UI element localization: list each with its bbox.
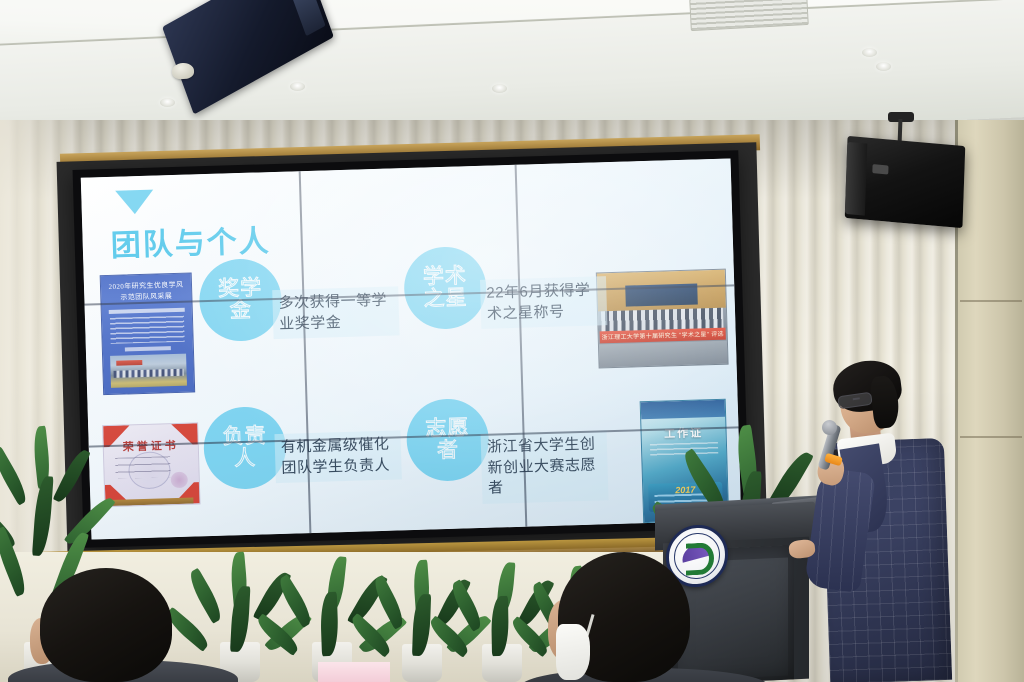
slide-badge-volunteer-label: 志愿者: [420, 417, 475, 463]
poster-inset-photo: [110, 354, 187, 388]
downlight: [290, 82, 305, 91]
plant-leaf: [32, 476, 54, 557]
attendee-left-head: [40, 568, 172, 682]
slide-badge-academic-star-label: 学术之星: [418, 265, 473, 311]
wall-panel-line: [960, 300, 1022, 302]
presentation-slide: 团队与个人 2020年研究生优良学风 示范团队风采展: [81, 158, 741, 539]
wall-speaker: [845, 136, 966, 228]
slide-badge-leader-label: 负责人: [217, 425, 272, 471]
wall-panel-line: [960, 436, 1022, 438]
speaker-port: [872, 164, 888, 174]
slide-text-academic-star: 22年6月获得学术之星称号: [480, 276, 607, 329]
slide-photo-blue-poster: 2020年研究生优良学风 示范团队风采展: [100, 272, 196, 395]
face-mask-icon: [556, 624, 590, 680]
poster-caption-line2: 示范团队风采展: [120, 292, 172, 302]
certificate-body-text: [115, 456, 170, 478]
slide-badge-volunteer: 志愿者: [406, 398, 490, 482]
poster-inset-banner: [116, 360, 142, 366]
video-wall-display[interactable]: 团队与个人 2020年研究生优良学风 示范团队风采展: [73, 150, 750, 548]
potted-plant: [458, 562, 544, 682]
slide-title: 团队与个人: [110, 216, 271, 265]
downlight: [160, 98, 175, 107]
downlight: [492, 84, 507, 93]
slide-badge-academic-star: 学术之星: [403, 246, 487, 330]
poster-band-2: [125, 346, 171, 351]
downlight: [876, 62, 891, 71]
poster-caption-line1: 2020年研究生优良学风: [109, 281, 184, 291]
slide-photo-group: 浙江理工大学第十届研究生 "学术之星" 评选: [596, 269, 729, 369]
poster-caption: 2020年研究生优良学风 示范团队风采展: [101, 280, 192, 304]
badge-poster-header: [641, 400, 725, 419]
triangle-down-icon: [115, 190, 154, 215]
group-photo-floor: [599, 340, 728, 367]
potted-plant: [196, 552, 282, 682]
certificate-base: [109, 498, 194, 506]
right-wall-column: [955, 120, 1024, 682]
slide-text-volunteer: 浙江省大学生创新创业大赛志愿者: [481, 430, 609, 504]
slide-viewport: 团队与个人 2020年研究生优良学风 示范团队风采展: [81, 158, 741, 539]
slide-photo-certificate: 荣誉证书: [102, 422, 200, 507]
conference-room-photo: 团队与个人 2020年研究生优良学风 示范团队风采展: [0, 0, 1024, 682]
potted-plant: [378, 560, 464, 682]
downlight: [862, 48, 877, 57]
handout-paper: [318, 662, 390, 682]
poster-inset-people: [114, 368, 184, 378]
certificate-stamp: [170, 472, 187, 488]
speaker-side-panel: [845, 142, 867, 216]
smoke-detector-icon: [172, 62, 195, 79]
poster-text-lines: [110, 316, 185, 344]
poster-band: [109, 308, 185, 314]
